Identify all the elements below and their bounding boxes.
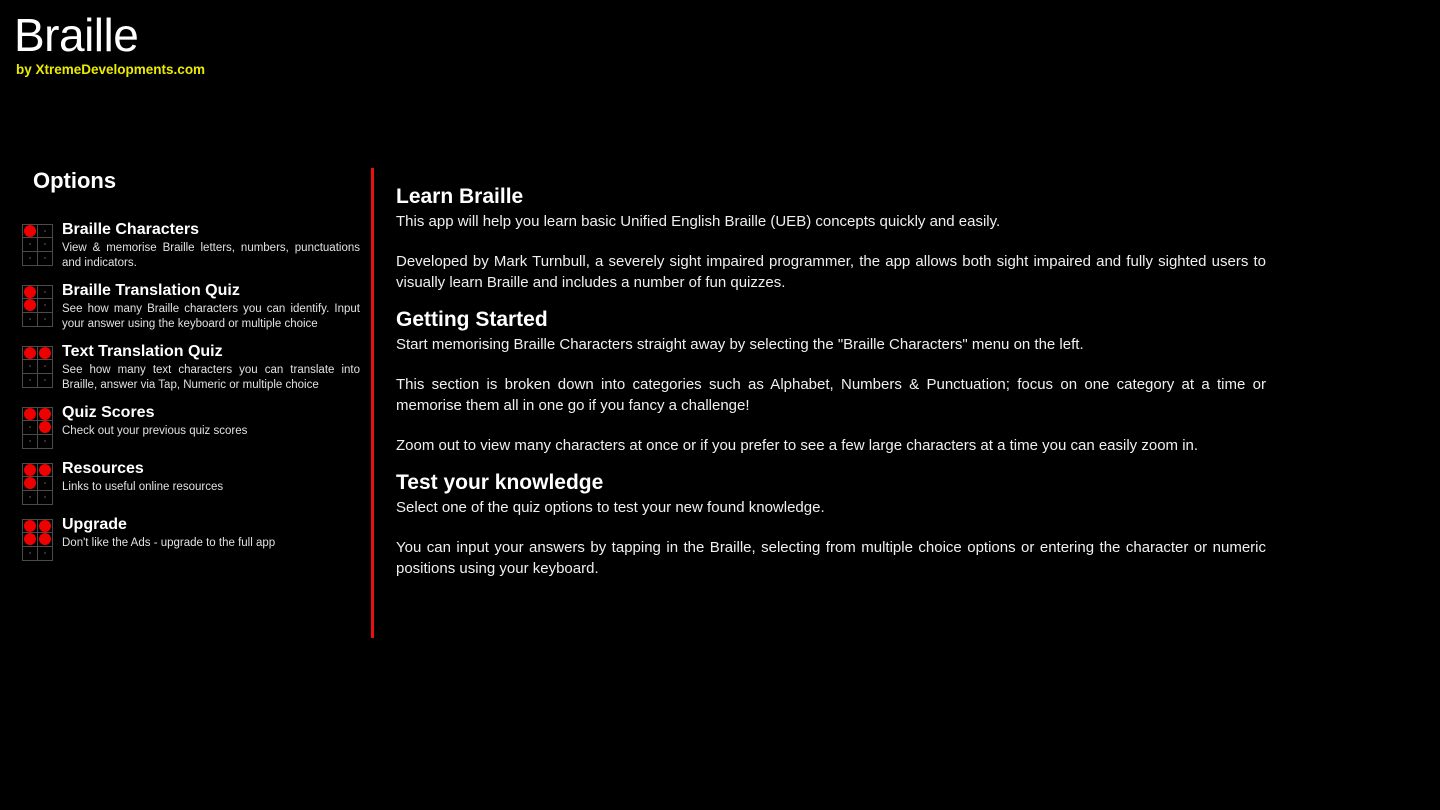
section-paragraph: This section is broken down into categor… bbox=[396, 374, 1266, 416]
braille-dot-4 bbox=[38, 286, 53, 299]
braille-dot-3 bbox=[23, 313, 38, 326]
option-item-braille-characters[interactable]: Braille CharactersView & memorise Braill… bbox=[0, 220, 372, 271]
braille-dot-3 bbox=[23, 491, 38, 504]
option-title: Resources bbox=[62, 459, 360, 479]
braille-dot-5 bbox=[38, 533, 53, 546]
section-paragraph: You can input your answers by tapping in… bbox=[396, 537, 1266, 579]
braille-dot-5 bbox=[38, 477, 53, 490]
section-paragraph: Start memorising Braille Characters stra… bbox=[396, 334, 1266, 355]
option-title: Text Translation Quiz bbox=[62, 342, 360, 362]
option-item-upgrade[interactable]: UpgradeDon't like the Ads - upgrade to t… bbox=[0, 515, 372, 561]
section-heading: Getting Started bbox=[396, 307, 1266, 333]
app-subtitle: by XtremeDevelopments.com bbox=[14, 62, 614, 78]
option-item-quiz-scores[interactable]: Quiz ScoresCheck out your previous quiz … bbox=[0, 403, 372, 449]
braille-cell-icon bbox=[22, 519, 53, 561]
app-header: Braille by XtremeDevelopments.com bbox=[14, 8, 614, 78]
braille-dot-5 bbox=[38, 360, 53, 373]
braille-dot-6 bbox=[38, 547, 53, 560]
section-paragraph: Select one of the quiz options to test y… bbox=[396, 497, 1266, 518]
section-paragraph: Zoom out to view many characters at once… bbox=[396, 435, 1266, 456]
braille-dot-4 bbox=[38, 408, 53, 421]
app-title: Braille bbox=[14, 8, 614, 62]
braille-dot-5 bbox=[38, 421, 53, 434]
braille-dot-1 bbox=[23, 225, 38, 238]
braille-cell-icon bbox=[22, 224, 53, 266]
braille-dot-2 bbox=[23, 299, 38, 312]
option-text: Braille CharactersView & memorise Braill… bbox=[62, 220, 360, 271]
braille-dot-2 bbox=[23, 360, 38, 373]
braille-dot-1 bbox=[23, 286, 38, 299]
braille-dot-3 bbox=[23, 547, 38, 560]
option-title: Braille Translation Quiz bbox=[62, 281, 360, 301]
section-paragraph: Developed by Mark Turnbull, a severely s… bbox=[396, 251, 1266, 293]
braille-cell-icon bbox=[22, 346, 53, 388]
braille-cell-icon bbox=[22, 463, 53, 505]
braille-cell-icon bbox=[22, 407, 53, 449]
content-section: Test your knowledgeSelect one of the qui… bbox=[396, 470, 1266, 579]
braille-dot-5 bbox=[38, 299, 53, 312]
option-description: Links to useful online resources bbox=[62, 479, 360, 495]
content-section: Getting StartedStart memorising Braille … bbox=[396, 307, 1266, 456]
braille-dot-2 bbox=[23, 533, 38, 546]
braille-dot-2 bbox=[23, 238, 38, 251]
content-section: Learn BrailleThis app will help you lear… bbox=[396, 184, 1266, 293]
option-text: ResourcesLinks to useful online resource… bbox=[62, 459, 360, 495]
braille-dot-1 bbox=[23, 347, 38, 360]
braille-cell-icon bbox=[22, 285, 53, 327]
option-item-braille-translation-quiz[interactable]: Braille Translation QuizSee how many Bra… bbox=[0, 281, 372, 332]
braille-dot-1 bbox=[23, 408, 38, 421]
option-text: Quiz ScoresCheck out your previous quiz … bbox=[62, 403, 360, 439]
braille-dot-1 bbox=[23, 520, 38, 533]
braille-dot-4 bbox=[38, 225, 53, 238]
braille-dot-3 bbox=[23, 435, 38, 448]
braille-dot-6 bbox=[38, 435, 53, 448]
option-item-resources[interactable]: ResourcesLinks to useful online resource… bbox=[0, 459, 372, 505]
option-description: View & memorise Braille letters, numbers… bbox=[62, 240, 360, 271]
vertical-divider bbox=[371, 168, 374, 638]
option-text: UpgradeDon't like the Ads - upgrade to t… bbox=[62, 515, 360, 551]
braille-dot-6 bbox=[38, 374, 53, 387]
braille-dot-2 bbox=[23, 477, 38, 490]
braille-dot-4 bbox=[38, 347, 53, 360]
braille-dot-6 bbox=[38, 252, 53, 265]
section-heading: Test your knowledge bbox=[396, 470, 1266, 496]
braille-dot-1 bbox=[23, 464, 38, 477]
braille-dot-6 bbox=[38, 313, 53, 326]
braille-dot-2 bbox=[23, 421, 38, 434]
section-heading: Learn Braille bbox=[396, 184, 1266, 210]
content-panel: Learn BrailleThis app will help you lear… bbox=[396, 184, 1266, 579]
braille-dot-5 bbox=[38, 238, 53, 251]
section-paragraph: This app will help you learn basic Unifi… bbox=[396, 211, 1266, 232]
option-description: Don't like the Ads - upgrade to the full… bbox=[62, 535, 360, 551]
braille-dot-4 bbox=[38, 464, 53, 477]
option-description: See how many text characters you can tra… bbox=[62, 362, 360, 393]
options-heading: Options bbox=[0, 168, 372, 194]
option-item-text-translation-quiz[interactable]: Text Translation QuizSee how many text c… bbox=[0, 342, 372, 393]
braille-dot-4 bbox=[38, 520, 53, 533]
option-title: Upgrade bbox=[62, 515, 360, 535]
options-panel: Options Braille CharactersView & memoris… bbox=[0, 168, 372, 638]
braille-dot-6 bbox=[38, 491, 53, 504]
braille-dot-3 bbox=[23, 252, 38, 265]
option-description: Check out your previous quiz scores bbox=[62, 423, 360, 439]
option-text: Text Translation QuizSee how many text c… bbox=[62, 342, 360, 393]
option-title: Quiz Scores bbox=[62, 403, 360, 423]
option-description: See how many Braille characters you can … bbox=[62, 301, 360, 332]
options-list: Braille CharactersView & memorise Braill… bbox=[0, 194, 372, 561]
braille-dot-3 bbox=[23, 374, 38, 387]
option-title: Braille Characters bbox=[62, 220, 360, 240]
option-text: Braille Translation QuizSee how many Bra… bbox=[62, 281, 360, 332]
